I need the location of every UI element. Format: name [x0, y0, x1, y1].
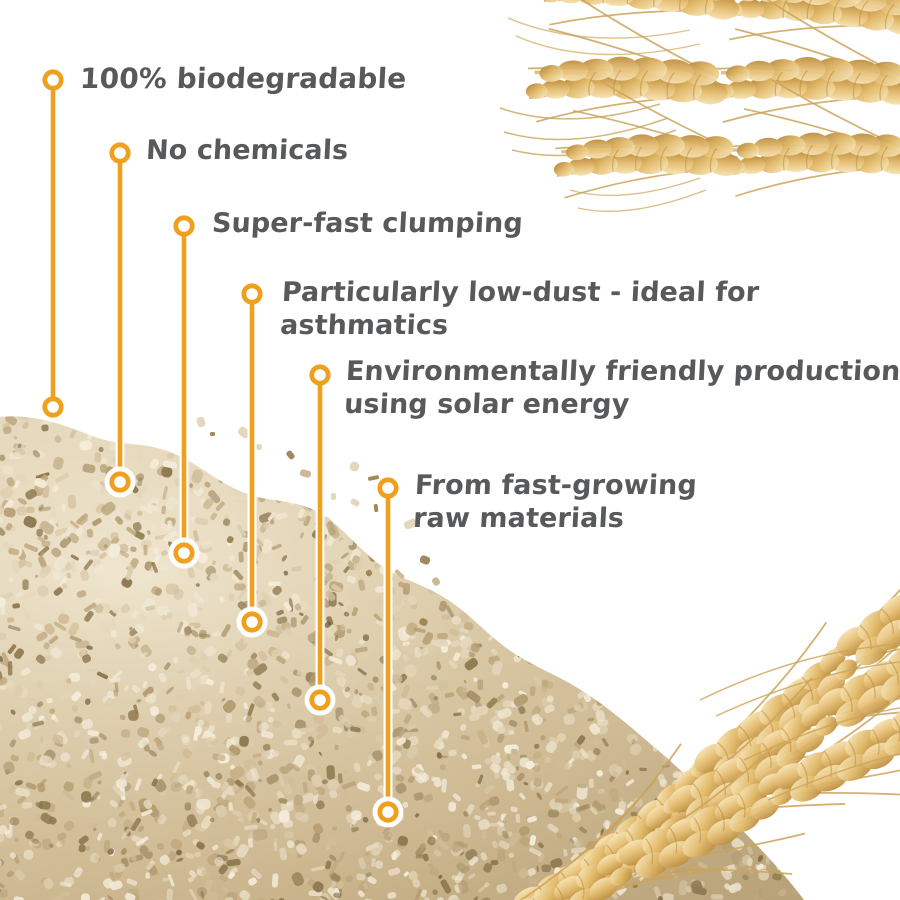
- feature-label-fast-growing: From fast-growing raw materials: [412, 470, 697, 536]
- feature-label-biodegradable: 100% biodegradable: [79, 62, 407, 96]
- feature-label-fast-clumping: Super-fast clumping: [211, 208, 524, 241]
- product-feature-infographic: 100% biodegradable No chemicals Super-fa…: [0, 0, 900, 900]
- feature-label-low-dust: Particularly low-dust - ideal for asthma…: [279, 277, 900, 343]
- feature-label-no-chemicals: No chemicals: [145, 135, 349, 168]
- feature-label-solar-production: Environmentally friendly production usin…: [343, 356, 900, 422]
- feature-label-group: 100% biodegradable No chemicals Super-fa…: [0, 0, 900, 900]
